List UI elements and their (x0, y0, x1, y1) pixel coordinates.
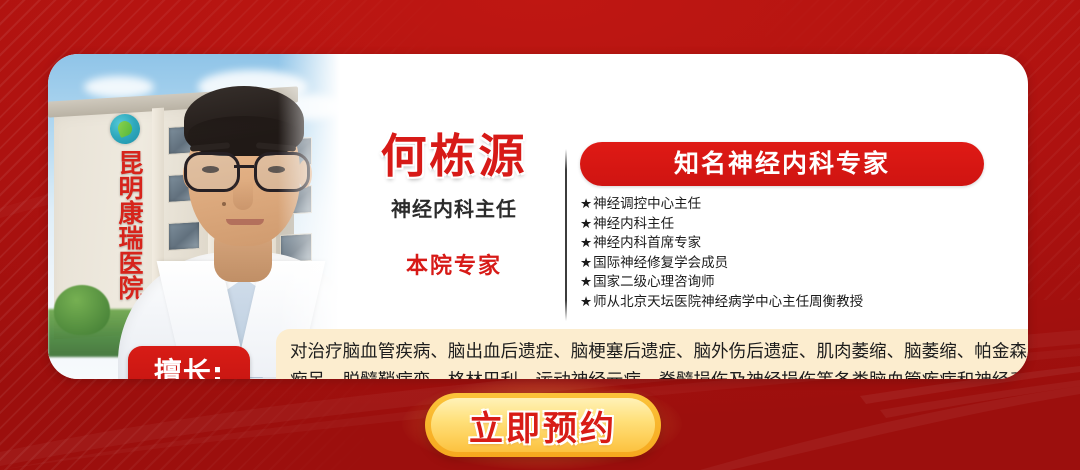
specialty-label-badge: 擅长: (128, 346, 250, 379)
glasses-bridge (234, 165, 254, 168)
credential-text: 国家二级心理咨询师 (593, 274, 715, 290)
specialty-panel: 对治疗脑血管疾病、脑出血后遗症、脑梗塞后遗症、脑外伤后遗症、肌肉萎缩、脑萎缩、帕… (276, 329, 1028, 379)
list-item: ★神经调控中心主任 (580, 195, 1000, 215)
star-icon: ★ (580, 235, 592, 251)
star-icon: ★ (580, 294, 592, 310)
nose (233, 180, 253, 210)
doctor-promo-banner: 昆明康瑞医院 (0, 0, 1080, 470)
star-icon: ★ (580, 196, 592, 212)
doctor-info-card: 昆明康瑞医院 (48, 54, 1028, 379)
doctor-name: 何栋源 (348, 132, 560, 180)
book-appointment-button[interactable]: 立即预约 (425, 393, 661, 457)
credential-text: 神经调控中心主任 (593, 196, 701, 212)
credentials-section: 知名神经内科专家 ★神经调控中心主任 ★神经内科主任 ★神经内科首席专家 ★国际… (580, 142, 1000, 312)
mouth (226, 219, 264, 225)
credentials-title-badge: 知名神经内科专家 (580, 142, 984, 186)
cta-inner-surface: 立即预约 (431, 398, 655, 452)
list-item: ★国家二级心理咨询师 (580, 273, 1000, 293)
star-icon: ★ (580, 274, 592, 290)
vertical-divider (565, 149, 567, 321)
doctor-tag: 本院专家 (348, 248, 560, 280)
facial-mole (222, 202, 226, 206)
cta-label: 立即预约 (469, 401, 617, 450)
list-item: ★神经内科首席专家 (580, 234, 1000, 254)
lens-left (184, 152, 240, 192)
credential-text: 神经内科主任 (593, 216, 674, 232)
list-item: ★国际神经修复学会成员 (580, 254, 1000, 274)
list-item: ★师从北京天坛医院神经病学中心主任周衡教授 (580, 293, 1000, 313)
credential-text: 国际神经修复学会成员 (593, 255, 728, 271)
credentials-list: ★神经调控中心主任 ★神经内科主任 ★神经内科首席专家 ★国际神经修复学会成员 … (580, 195, 1000, 312)
credential-text: 神经内科首席专家 (593, 235, 701, 251)
tree-shape (54, 285, 110, 335)
doctor-name-block: 何栋源 神经内科主任 本院专家 (348, 132, 560, 280)
star-icon: ★ (580, 255, 592, 271)
specialty-text: 对治疗脑血管疾病、脑出血后遗症、脑梗塞后遗症、脑外伤后遗症、肌肉萎缩、脑萎缩、帕… (290, 338, 1028, 379)
credential-text: 师从北京天坛医院神经病学中心主任周衡教授 (593, 294, 863, 310)
doctor-role: 神经内科主任 (348, 193, 560, 222)
star-icon: ★ (580, 216, 592, 232)
list-item: ★神经内科主任 (580, 215, 1000, 235)
